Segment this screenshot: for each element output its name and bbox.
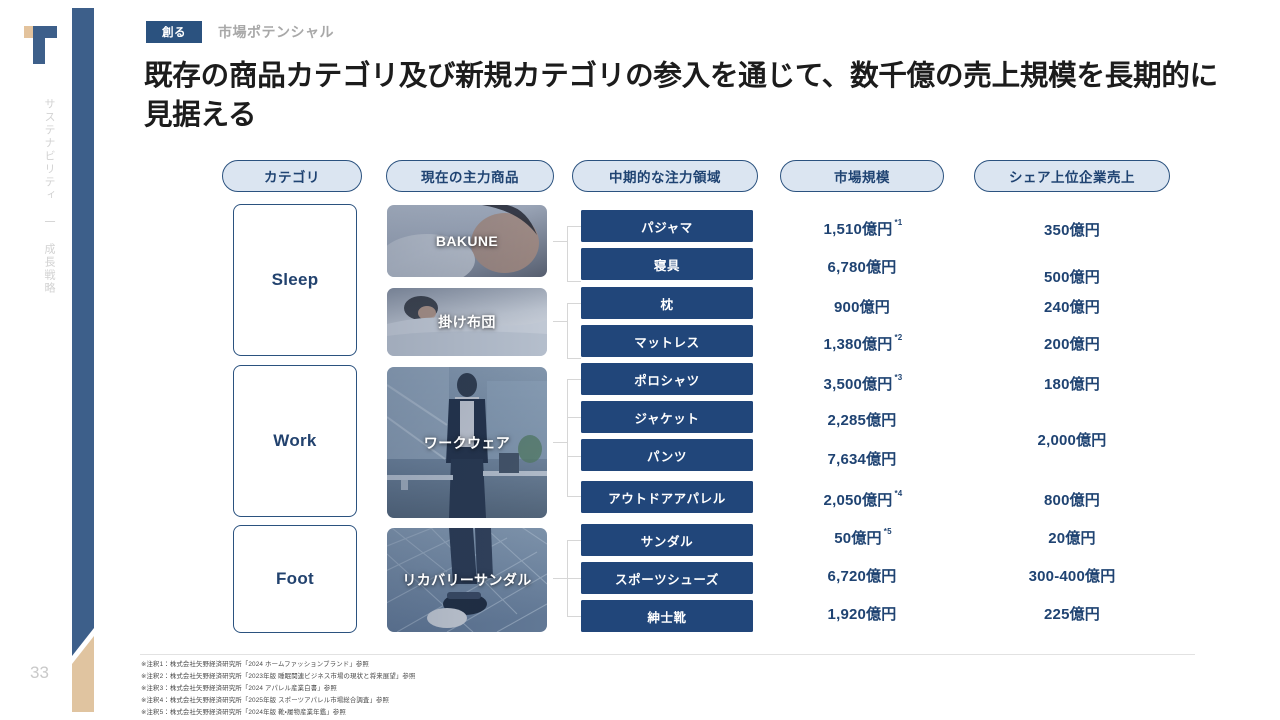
top-share-value: 240億円 xyxy=(974,296,1170,317)
market-size-value: 1,920億円 xyxy=(780,603,944,624)
footnote-divider xyxy=(140,654,1195,655)
column-header-top-share-sales: シェア上位企業売上 xyxy=(974,160,1170,192)
focus-box: パンツ xyxy=(581,439,753,471)
focus-box: スポーツシューズ xyxy=(581,562,753,594)
top-share-value-merged: 2,000億円 xyxy=(974,429,1170,450)
market-size-value: 2,285億円 xyxy=(780,409,944,430)
slide-canvas: サステナビリティ 一 成長戦略 33 創る 市場ポテンシャル 既存の商品カテゴリ… xyxy=(0,0,1280,720)
product-caption: リカバリーサンダル xyxy=(398,570,535,590)
rail-accent-bar xyxy=(72,8,94,712)
top-share-value: 200億円 xyxy=(974,333,1170,354)
category-card-work: Work xyxy=(233,365,357,517)
focus-box: マットレス xyxy=(581,325,753,357)
market-size-value: 6,720億円 xyxy=(780,565,944,586)
footnote-list: ※注釈1：株式会社矢野経済研究所「2024 ホームファッションブランド」参照 ※… xyxy=(141,659,841,719)
market-size-value: 3,500億円*3 xyxy=(780,373,944,394)
market-size-value: 900億円 xyxy=(780,296,944,317)
product-caption: BAKUNE xyxy=(432,233,502,249)
top-share-value: 20億円 xyxy=(974,527,1170,548)
focus-box: 寝具 xyxy=(581,248,753,280)
market-size-value: 6,780億円 xyxy=(780,256,944,277)
product-caption: 掛け布団 xyxy=(434,312,500,332)
t-logo-icon xyxy=(20,22,62,66)
top-share-value: 350億円 xyxy=(974,219,1170,240)
section-chip: 創る xyxy=(146,21,202,43)
top-share-value: 800億円 xyxy=(974,489,1170,510)
top-share-value: 180億円 xyxy=(974,373,1170,394)
top-share-value: 500億円 xyxy=(974,266,1170,287)
top-share-value: 300-400億円 xyxy=(974,565,1170,586)
footnote-item: ※注釈3：株式会社矢野経済研究所「2024 アパレル産業白書」参照 xyxy=(141,683,841,695)
market-size-value: 2,050億円*4 xyxy=(780,489,944,510)
footnote-item: ※注釈4：株式会社矢野経済研究所「2025年版 スポーツアパレル市場総合調査」参… xyxy=(141,695,841,707)
category-card-sleep: Sleep xyxy=(233,204,357,356)
top-share-value: 225億円 xyxy=(974,603,1170,624)
connector-sandals xyxy=(553,540,581,617)
focus-box: ジャケット xyxy=(581,401,753,433)
eyebrow-label: 市場ポテンシャル xyxy=(218,21,334,43)
market-size-value: 7,634億円 xyxy=(780,448,944,469)
footnote-item: ※注釈5：株式会社矢野経済研究所「2024年版 靴・履物産業年鑑」参照 xyxy=(141,707,841,719)
focus-box: アウトドアアパレル xyxy=(581,481,753,513)
connector-duvet xyxy=(553,303,581,359)
page-title: 既存の商品カテゴリ及び新規カテゴリの参入を通じて、数千億の売上規模を長期的に見据… xyxy=(144,57,1219,135)
footnote-item: ※注釈2：株式会社矢野経済研究所「2023年版 睡眠関連ビジネス市場の現状と将来… xyxy=(141,671,841,683)
product-photo-workwear: ワークウェア xyxy=(387,367,547,518)
focus-box: ポロシャツ xyxy=(581,363,753,395)
rail-vertical-text: サステナビリティ 一 成長戦略 xyxy=(28,98,54,295)
connector-bakune xyxy=(553,226,581,282)
focus-box: 枕 xyxy=(581,287,753,319)
column-header-current-products: 現在の主力商品 xyxy=(386,160,554,192)
market-size-value: 1,510億円*1 xyxy=(780,218,944,239)
category-card-foot: Foot xyxy=(233,525,357,633)
column-header-market-size: 市場規模 xyxy=(780,160,944,192)
product-photo-bakune: BAKUNE xyxy=(387,205,547,277)
column-header-category: カテゴリ xyxy=(222,160,362,192)
page-number: 33 xyxy=(30,663,49,683)
focus-box: 紳士靴 xyxy=(581,600,753,632)
market-size-value: 50億円*5 xyxy=(780,527,944,548)
focus-box: パジャマ xyxy=(581,210,753,242)
connector-workwear xyxy=(553,379,581,497)
market-size-value: 1,380億円*2 xyxy=(780,333,944,354)
product-photo-duvet: 掛け布団 xyxy=(387,288,547,356)
product-caption: ワークウェア xyxy=(420,433,514,453)
footnote-item: ※注釈1：株式会社矢野経済研究所「2024 ホームファッションブランド」参照 xyxy=(141,659,841,671)
product-photo-sandals: リカバリーサンダル xyxy=(387,528,547,632)
column-header-focus-areas: 中期的な注力領域 xyxy=(572,160,758,192)
focus-box: サンダル xyxy=(581,524,753,556)
